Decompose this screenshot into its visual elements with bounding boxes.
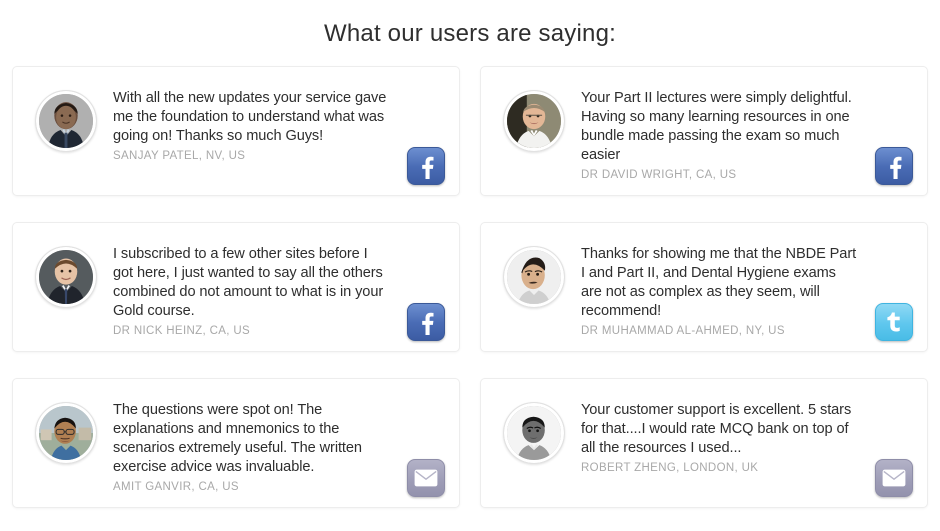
avatar-photo bbox=[507, 94, 561, 148]
testimonial-quote: I subscribed to a few other sites before… bbox=[113, 245, 389, 321]
testimonial-attribution: AMIT GANVIR, CA, US bbox=[113, 481, 389, 493]
avatar-photo bbox=[507, 250, 561, 304]
testimonial-card[interactable]: I subscribed to a few other sites before… bbox=[12, 222, 460, 352]
avatar-photo bbox=[39, 250, 93, 304]
email-icon[interactable] bbox=[875, 459, 913, 497]
twitter-icon[interactable] bbox=[875, 303, 913, 341]
testimonial-quote: Your customer support is excellent. 5 st… bbox=[581, 401, 857, 458]
testimonial-quote: The questions were spot on! The explanat… bbox=[113, 401, 389, 477]
testimonial-body: With all the new updates your service ga… bbox=[113, 89, 441, 162]
testimonial-attribution: DR DAVID WRIGHT, CA, US bbox=[581, 169, 857, 181]
avatar-photo bbox=[39, 406, 93, 460]
testimonial-attribution: SANJAY PATEL, NV, US bbox=[113, 150, 389, 162]
testimonial-card[interactable]: With all the new updates your service ga… bbox=[12, 66, 460, 196]
testimonial-card[interactable]: Thanks for showing me that the NBDE Part… bbox=[480, 222, 928, 352]
testimonial-attribution: ROBERT ZHENG, LONDON, UK bbox=[581, 462, 857, 474]
testimonial-body: Your Part II lectures were simply deligh… bbox=[581, 89, 909, 181]
avatar bbox=[35, 90, 97, 152]
testimonial-body: Your customer support is excellent. 5 st… bbox=[581, 401, 909, 474]
testimonial-attribution: DR NICK HEINZ, CA, US bbox=[113, 325, 389, 337]
testimonial-card[interactable]: Your customer support is excellent. 5 st… bbox=[480, 378, 928, 508]
email-icon[interactable] bbox=[407, 459, 445, 497]
testimonial-body: The questions were spot on! The explanat… bbox=[113, 401, 441, 493]
avatar-photo bbox=[507, 406, 561, 460]
testimonial-quote: Thanks for showing me that the NBDE Part… bbox=[581, 245, 857, 321]
testimonial-body: Thanks for showing me that the NBDE Part… bbox=[581, 245, 909, 337]
avatar bbox=[35, 402, 97, 464]
facebook-icon[interactable] bbox=[407, 303, 445, 341]
facebook-icon[interactable] bbox=[407, 147, 445, 185]
page-title: What our users are saying: bbox=[0, 0, 940, 49]
testimonial-quote: With all the new updates your service ga… bbox=[113, 89, 389, 146]
testimonial-card[interactable]: Your Part II lectures were simply deligh… bbox=[480, 66, 928, 196]
testimonial-body: I subscribed to a few other sites before… bbox=[113, 245, 441, 337]
avatar bbox=[503, 90, 565, 152]
testimonial-card[interactable]: The questions were spot on! The explanat… bbox=[12, 378, 460, 508]
avatar-photo bbox=[39, 94, 93, 148]
testimonial-attribution: DR MUHAMMAD AL-AHMED, NY, US bbox=[581, 325, 857, 337]
avatar bbox=[35, 246, 97, 308]
testimonial-quote: Your Part II lectures were simply deligh… bbox=[581, 89, 857, 165]
avatar bbox=[503, 246, 565, 308]
facebook-icon[interactable] bbox=[875, 147, 913, 185]
testimonials-grid: With all the new updates your service ga… bbox=[0, 66, 940, 508]
avatar bbox=[503, 402, 565, 464]
testimonials-page: What our users are saying: bbox=[0, 0, 940, 531]
